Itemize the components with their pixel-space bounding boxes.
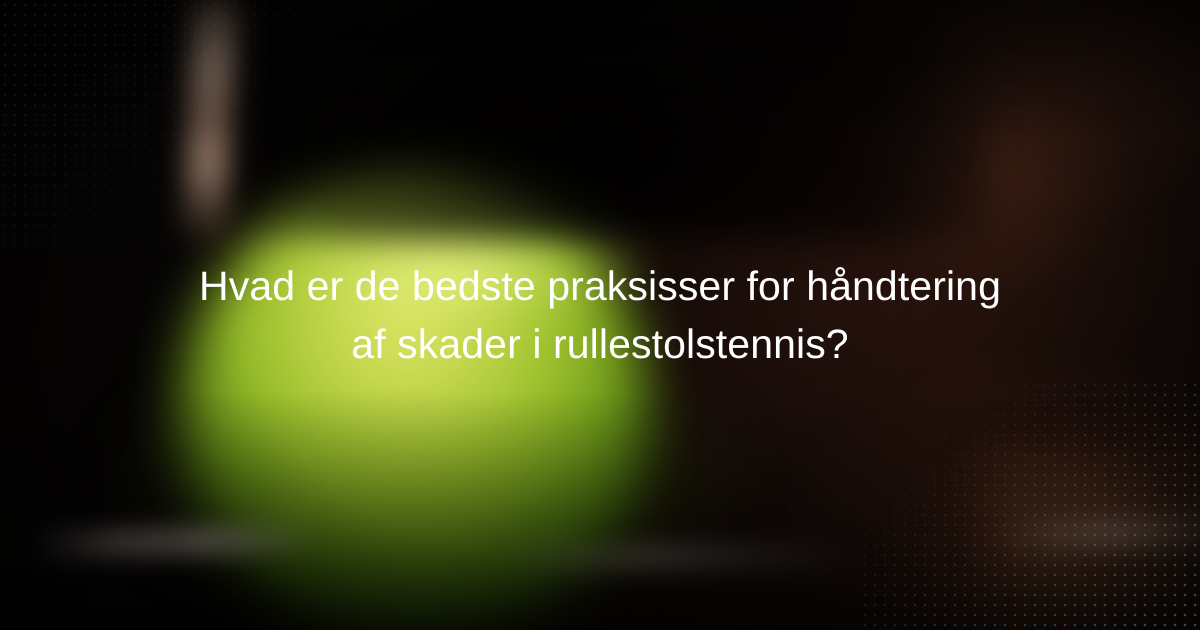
screenshot-canvas: Hvad er de bedste praksisser for håndter… (0, 0, 1200, 630)
question-title: Hvad er de bedste praksisser for håndter… (101, 257, 1099, 373)
question-line-2: af skader i rullestolstennis? (127, 315, 1073, 373)
question-card: Hvad er de bedste praksisser for håndter… (101, 199, 1099, 431)
question-line-1: Hvad er de bedste praksisser for håndter… (127, 257, 1073, 315)
